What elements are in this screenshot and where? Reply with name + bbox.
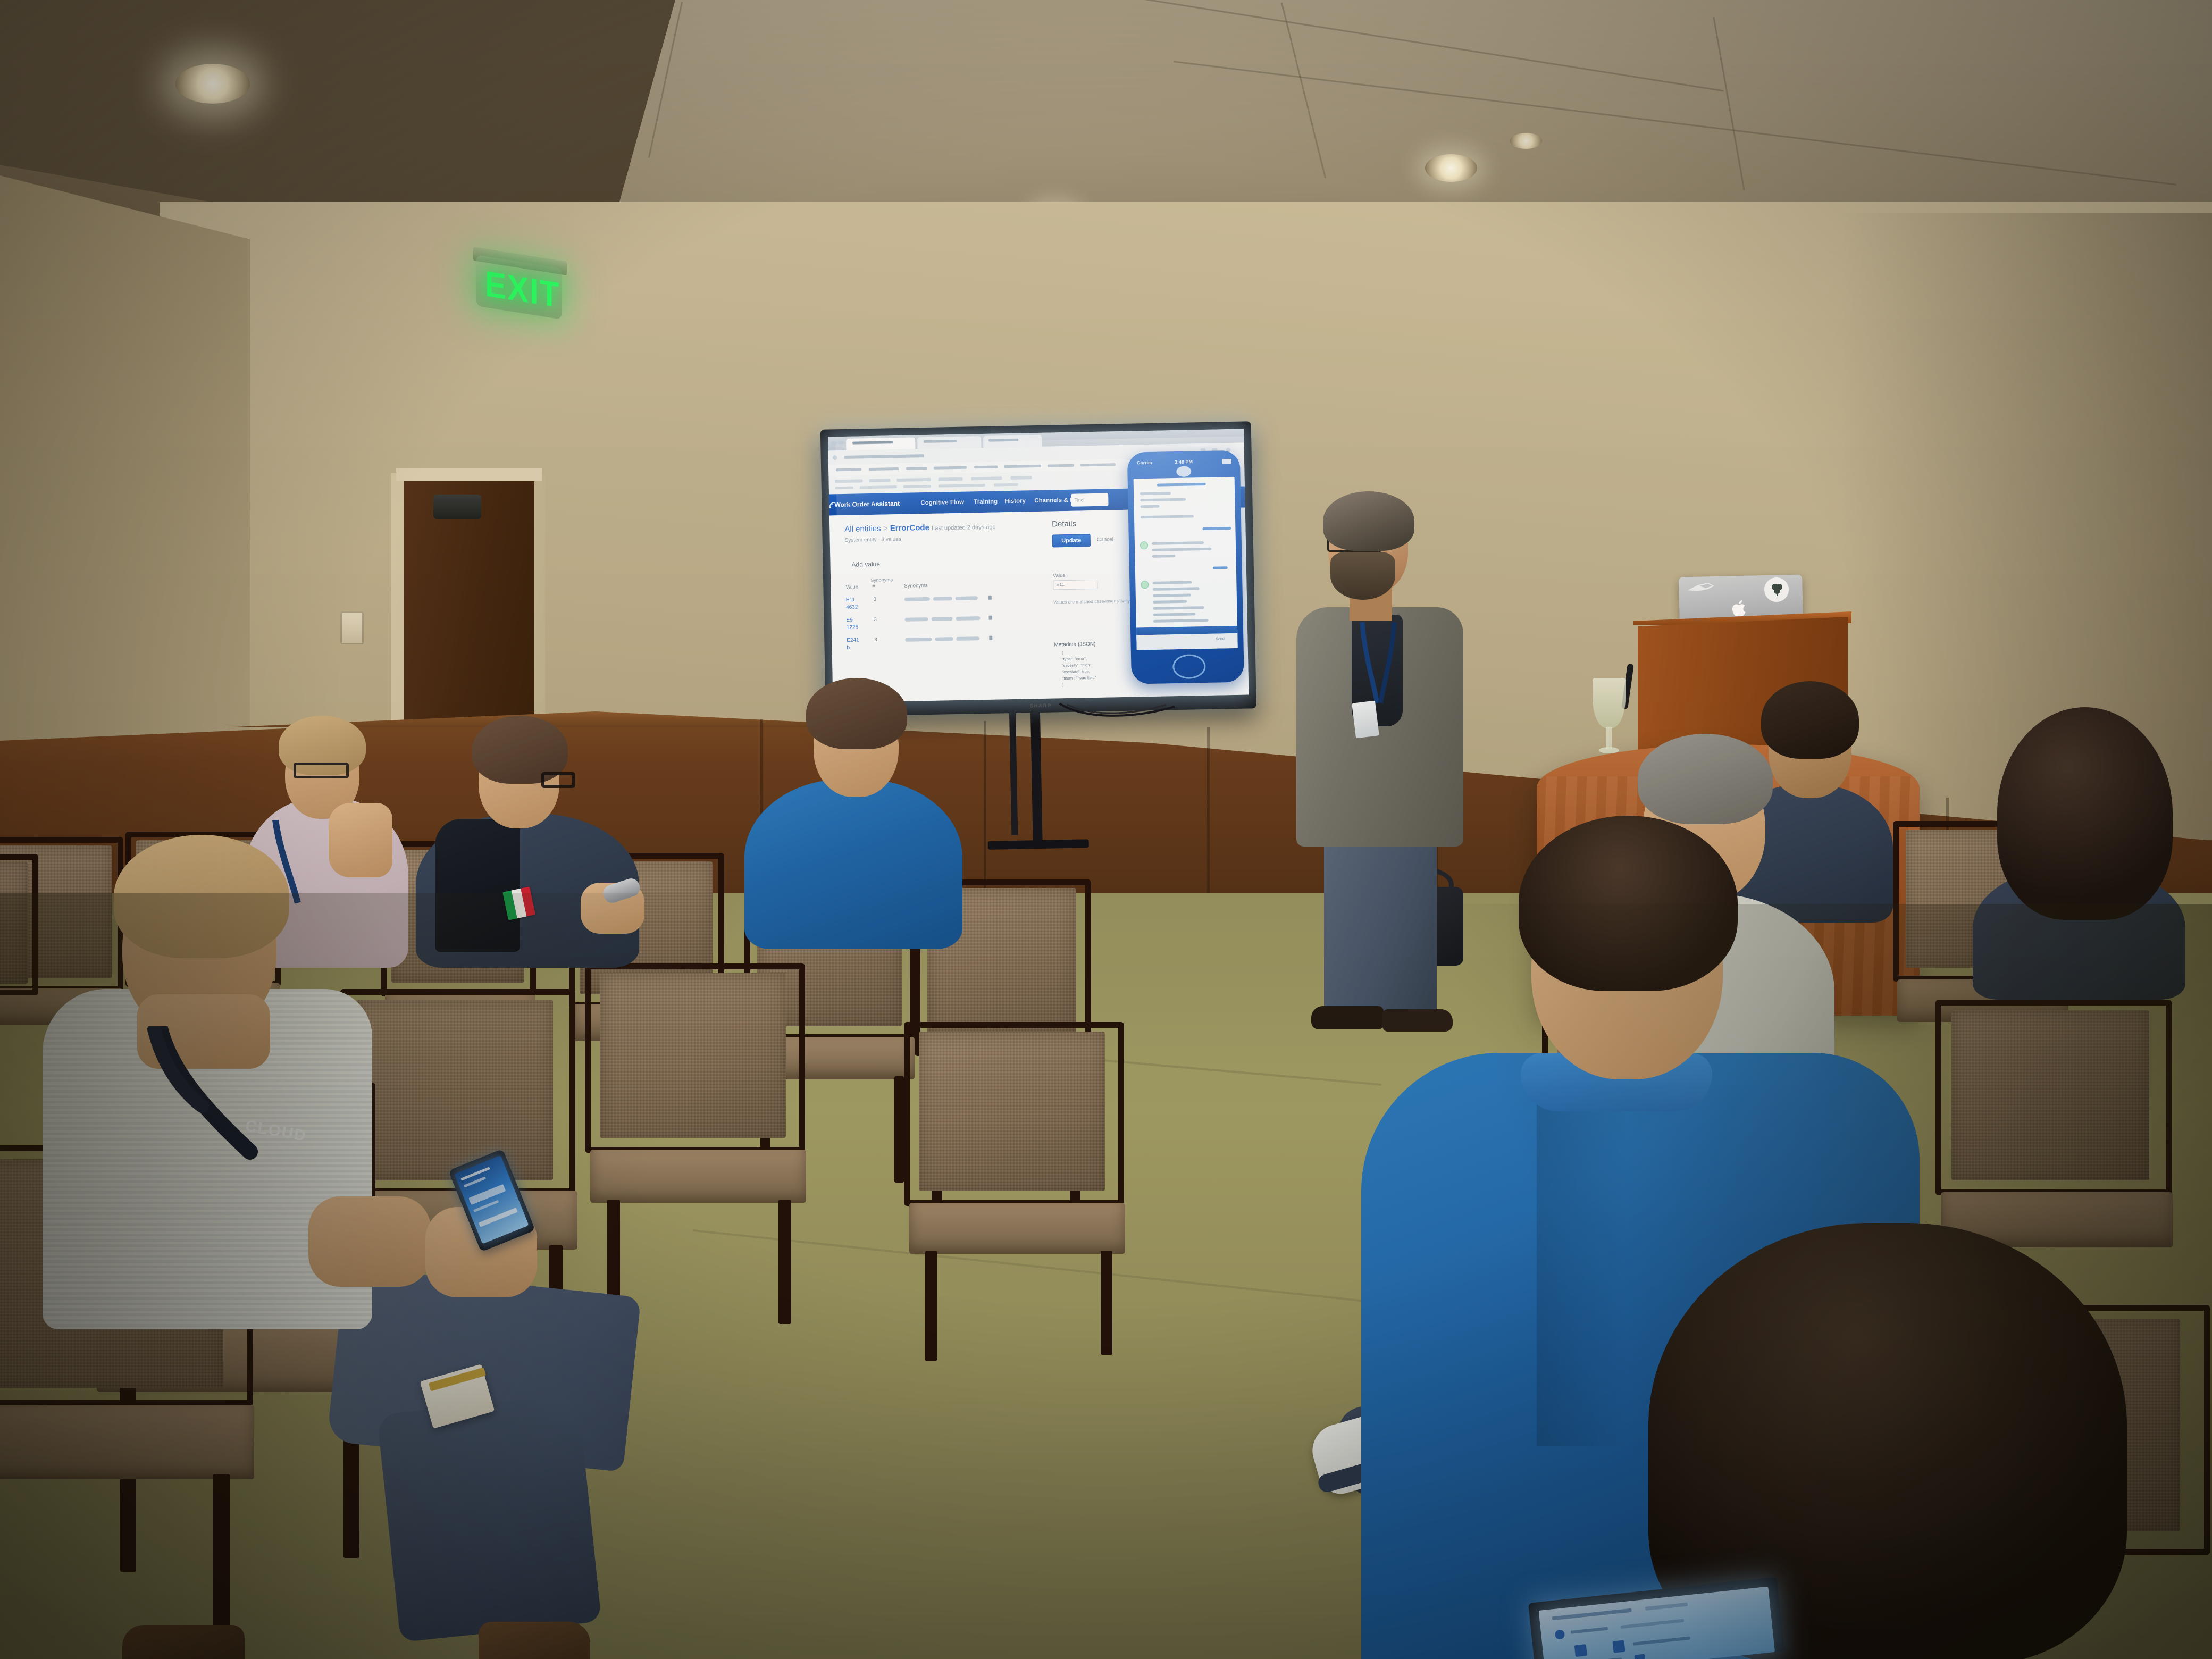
table-row[interactable]: b (847, 645, 850, 651)
chat-bot-line (1153, 606, 1204, 610)
cancel-link[interactable]: Cancel (1097, 537, 1113, 543)
toolbar-control[interactable] (938, 477, 962, 481)
send-button[interactable]: Send (1216, 636, 1225, 641)
bookmark-item[interactable] (1080, 463, 1116, 466)
presenter-hair (1323, 491, 1414, 551)
toolbar-control[interactable] (869, 479, 891, 482)
chat-bot-line (1152, 555, 1175, 558)
glass-bowl (1593, 678, 1626, 728)
patriots-sticker-icon (1687, 581, 1715, 597)
chat-bot-line (1153, 600, 1187, 604)
wall-switch-plate[interactable] (340, 611, 364, 644)
table-caption: Synonyms (870, 577, 893, 583)
table-row[interactable]: E9 (846, 617, 852, 624)
presenter-badge (1352, 701, 1379, 739)
code-line: "severity": "high", (1062, 663, 1092, 668)
code-line: } (1062, 682, 1064, 687)
delete-icon[interactable] (989, 636, 992, 640)
exit-sign: EXIT (476, 254, 562, 314)
value-input-text: E11 (1056, 582, 1065, 588)
phone-mockup: Carrier 3:48 PM (1127, 450, 1244, 684)
table-row: 3 (874, 637, 877, 643)
values-table: Value # Synonyms E11 4632 3 E9 1225 3 (845, 581, 1000, 584)
toolbar-control[interactable] (1010, 476, 1032, 480)
apple-logo-icon (1732, 600, 1748, 617)
shamrock-icon (1771, 583, 1783, 597)
person-hair (806, 678, 907, 749)
chat-user-message (1202, 527, 1231, 530)
breadcrumb-meta: Last updated 2 days ago (932, 524, 996, 532)
synonym-chip[interactable] (933, 597, 952, 601)
phone-input-bar[interactable] (1136, 633, 1238, 650)
lanyard (1359, 622, 1398, 707)
table-row[interactable]: 4632 (846, 605, 858, 611)
chat-bot-line (1153, 587, 1200, 591)
chat-bot-line (1140, 498, 1186, 502)
presenter-beard (1330, 552, 1395, 600)
synonym-chip[interactable] (935, 637, 953, 641)
metadata-label: Metadata (JSON) (1054, 641, 1095, 648)
value-field-label: Value (1053, 573, 1066, 579)
chat-bot-line (1152, 581, 1192, 584)
bookmark-item[interactable] (836, 468, 861, 471)
chat-bot-line (1141, 505, 1160, 508)
bookmark-item[interactable] (1048, 464, 1074, 467)
breadcrumb-current: ErrorCode (890, 523, 930, 533)
details-panel-title: Details (1052, 520, 1076, 530)
app-logo-text[interactable]: Work Order Assistant (834, 500, 900, 508)
chat-bot-line (1153, 613, 1195, 616)
toolbar-control[interactable] (994, 483, 1018, 487)
recessed-can-light (1425, 154, 1477, 182)
breadcrumb-separator: > (883, 524, 888, 533)
code-line: { (1062, 650, 1063, 655)
browser-forward-icon[interactable] (839, 441, 844, 446)
breadcrumb-root[interactable]: All entities (844, 524, 881, 534)
table-row[interactable]: 1225 (847, 625, 858, 631)
synonym-chip[interactable] (956, 616, 981, 621)
toolbar-control[interactable] (835, 479, 863, 483)
chat-bot-line (1153, 594, 1191, 597)
floor-shadow (0, 893, 798, 1659)
tv-cables (1054, 699, 1177, 723)
delete-icon[interactable] (988, 616, 992, 620)
chat-bot-line (1152, 541, 1204, 545)
synonym-chip[interactable] (956, 596, 978, 600)
bookmark-item[interactable] (934, 466, 967, 470)
synonym-chip[interactable] (932, 617, 953, 621)
bookmark-item[interactable] (1004, 465, 1041, 468)
conference-room-photo: EXIT (0, 0, 2212, 1659)
toolbar-control[interactable] (835, 487, 853, 490)
table-header-synonyms: Synonyms (904, 583, 928, 589)
chat-user-message (1213, 566, 1228, 569)
table-row: 3 (874, 617, 877, 623)
tab-title-text (988, 439, 1018, 442)
floor-shadow (1361, 904, 2212, 1659)
table-row: 3 (874, 597, 877, 602)
table-row[interactable]: E241 (847, 637, 859, 643)
update-button-label: Update (1052, 537, 1091, 544)
chat-bot-line (1152, 548, 1211, 551)
breadcrumb: All entities > ErrorCode Last updated 2 … (844, 522, 996, 535)
synonym-chip[interactable] (905, 638, 932, 642)
home-button[interactable] (1172, 654, 1206, 679)
browser-back-icon[interactable] (831, 441, 836, 446)
synonym-chip[interactable] (956, 636, 979, 641)
code-line: "team": "hvac-field" (1062, 675, 1096, 681)
code-line: "type": "error", (1062, 656, 1087, 661)
recessed-can-light (175, 64, 250, 104)
phone-screen (1134, 477, 1238, 650)
reload-icon[interactable] (833, 455, 837, 460)
eyeglasses-icon (294, 763, 349, 778)
bot-avatar (1140, 541, 1148, 549)
nav-item-cognitive-flow[interactable]: Cognitive Flow (920, 499, 964, 507)
nav-item-training[interactable]: Training (974, 498, 998, 506)
tv-screen: Work Order Assistant Cognitive Flow Trai… (828, 429, 1249, 703)
toolbar-control[interactable] (896, 478, 931, 482)
toolbar-control[interactable] (903, 485, 931, 488)
chair[interactable] (904, 1032, 1133, 1361)
table-row[interactable]: E11 (846, 597, 855, 604)
recessed-can-light (1510, 133, 1542, 149)
synonym-chip[interactable] (905, 617, 928, 622)
nav-item-history[interactable]: History (1004, 497, 1026, 505)
add-value-link[interactable]: Add value (851, 560, 880, 568)
table-header-value: Value (845, 584, 858, 590)
eyeglasses-icon (541, 772, 575, 788)
bookmark-item[interactable] (906, 467, 927, 470)
bot-avatar (1141, 581, 1149, 589)
url-text (844, 454, 924, 459)
chat-bot-line (1140, 492, 1171, 495)
door-sensor (433, 495, 481, 519)
code-line: "escalate": true, (1062, 669, 1090, 674)
synonym-chip[interactable] (904, 597, 930, 601)
table-header-count: # (872, 584, 875, 590)
toolbar-control[interactable] (860, 485, 897, 489)
bookmark-item[interactable] (869, 467, 899, 471)
toolbar-control[interactable] (971, 476, 1002, 480)
nav-search-placeholder: Find (1074, 497, 1084, 503)
door-header (396, 468, 542, 481)
phone-speaker-camera (1176, 466, 1191, 477)
chat-bot-line (1141, 515, 1194, 518)
toolbar-control[interactable] (939, 484, 985, 488)
chat-bot-line (1153, 619, 1209, 623)
bookmark-item[interactable] (974, 465, 998, 468)
entity-subtext: System entity · 3 values (845, 537, 901, 544)
battery-icon (1222, 459, 1231, 464)
delete-icon[interactable] (988, 596, 992, 600)
chat-header-text (1157, 483, 1206, 487)
